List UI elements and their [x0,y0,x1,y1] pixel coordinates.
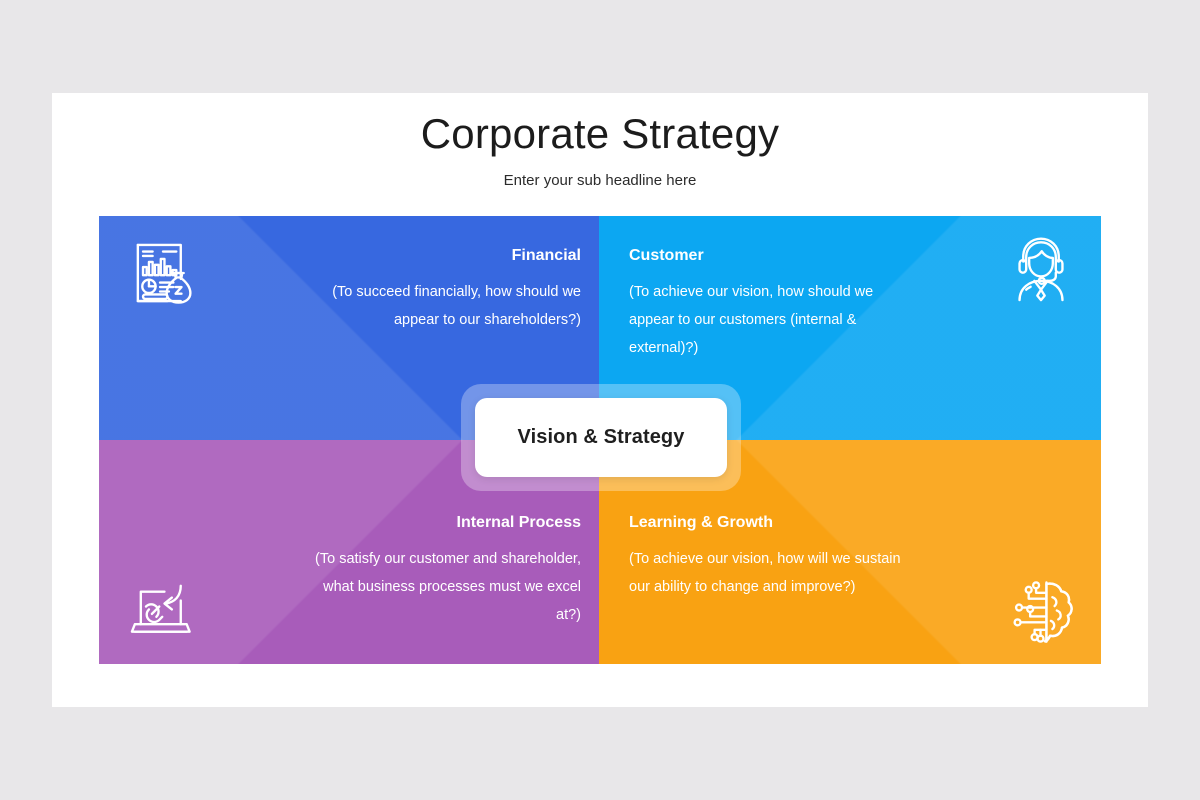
vision-strategy-label: Vision & Strategy [518,426,685,449]
quadrant-customer-text: Customer (To achieve our vision, how sho… [629,248,909,362]
customer-support-headset-icon [1004,232,1078,306]
quadrant-learning-growth-title: Learning & Growth [629,515,909,531]
brain-circuit-ai-icon [1005,575,1079,649]
laptop-link-arrow-icon [126,568,200,642]
quadrant-customer-body: (To achieve our vision, how should we ap… [629,278,909,362]
quadrant-learning-growth-text: Learning & Growth (To achieve our vision… [629,515,909,601]
financial-report-money-bag-icon [126,236,200,310]
quadrant-internal-process-title: Internal Process [301,515,581,531]
quadrant-financial-title: Financial [301,248,581,264]
quadrant-internal-process-body: (To satisfy our customer and shareholder… [301,545,581,629]
quadrant-customer-title: Customer [629,248,909,264]
page-title: Corporate Strategy [52,113,1148,155]
vision-strategy-card[interactable]: Vision & Strategy [475,398,727,477]
vision-strategy-halo: Vision & Strategy [461,384,741,491]
quadrant-learning-growth-body: (To achieve our vision, how will we sust… [629,545,909,601]
quadrant-financial-body: (To succeed financially, how should we a… [301,278,581,334]
slide-canvas: Corporate Strategy Enter your sub headli… [52,93,1148,707]
quadrant-internal-process-text: Internal Process (To satisfy our custome… [301,515,581,629]
quadrant-financial-text: Financial (To succeed financially, how s… [301,248,581,334]
page-subtitle: Enter your sub headline here [52,173,1148,188]
